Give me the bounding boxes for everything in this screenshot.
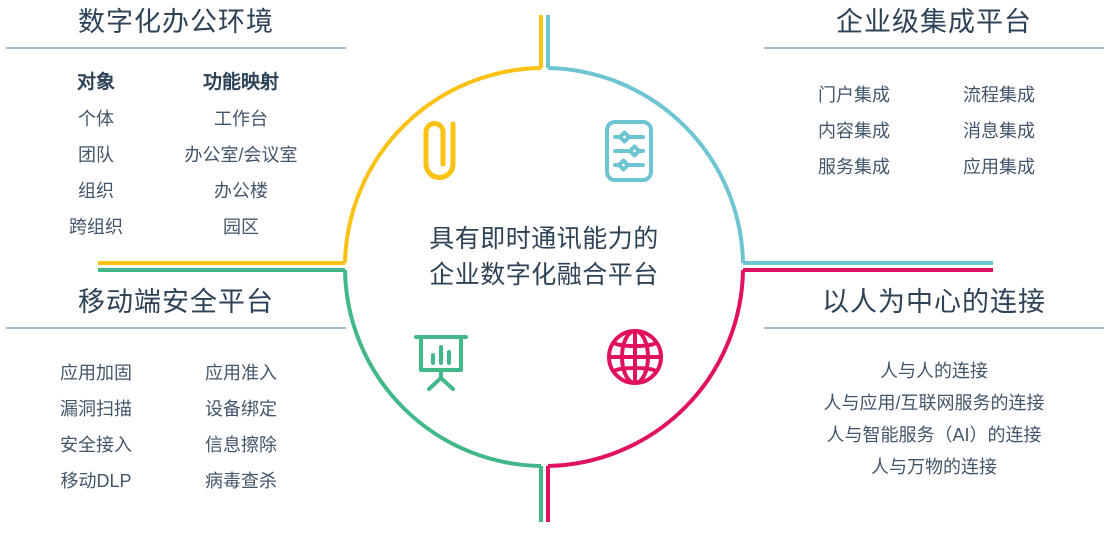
panel-digital-office-environment: 数字化办公环境 对象 个体 团队 组织 跨组织 功能映射 工作台 办公室/会议室… [6, 8, 346, 245]
panel-rule-bottom-left [6, 327, 346, 329]
panel-title-bottom-left: 移动端安全平台 [6, 288, 346, 318]
column-integration-right: 流程集成 消息集成 应用集成 [919, 77, 1079, 185]
list-item: 门户集成 [818, 77, 890, 113]
list-item: 信息擦除 [205, 427, 277, 463]
list-item: 消息集成 [963, 113, 1035, 149]
list-item: 内容集成 [818, 113, 890, 149]
list-item: 团队 [78, 137, 114, 173]
column-header-function-mapping: 功能映射 [203, 65, 279, 101]
column-header-objects: 对象 [77, 65, 115, 101]
globe-icon [604, 326, 666, 393]
column-security-left: 应用加固 漏洞扫描 安全接入 移动DLP [31, 355, 161, 499]
list-item: 跨组织 [69, 209, 123, 245]
panel-rule-top-right [764, 47, 1104, 49]
list-item: 园区 [223, 209, 259, 245]
list-item: 办公楼 [214, 173, 268, 209]
list-item: 工作台 [214, 101, 268, 137]
list-item: 应用集成 [963, 149, 1035, 185]
panel-title-bottom-right: 以人为中心的连接 [764, 288, 1104, 318]
settings-sliders-icon [600, 118, 658, 189]
panel-mobile-security-platform: 移动端安全平台 应用加固 漏洞扫描 安全接入 移动DLP 应用准入 设备绑定 信… [6, 288, 346, 499]
list-item: 漏洞扫描 [60, 391, 132, 427]
panel-enterprise-integration-platform: 企业级集成平台 门户集成 内容集成 服务集成 流程集成 消息集成 应用集成 [764, 8, 1104, 185]
list-item: 设备绑定 [205, 391, 277, 427]
panel-rule-top-left [6, 47, 346, 49]
list-item: 人与应用/互联网服务的连接 [824, 387, 1045, 419]
list-item: 应用加固 [60, 355, 132, 391]
panel-title-top-right: 企业级集成平台 [764, 8, 1104, 38]
list-item: 服务集成 [818, 149, 890, 185]
center-title-line-2: 企业数字化融合平台 [344, 258, 744, 294]
center-title-line-1: 具有即时通讯能力的 [344, 222, 744, 258]
list-item: 病毒查杀 [205, 463, 277, 499]
list-item: 应用准入 [205, 355, 277, 391]
column-function-mapping: 功能映射 工作台 办公室/会议室 办公楼 园区 [161, 65, 321, 245]
list-item: 人与智能服务（AI）的连接 [826, 419, 1041, 451]
list-item: 个体 [78, 101, 114, 137]
column-objects: 对象 个体 团队 组织 跨组织 [31, 65, 161, 245]
panel-people-centric-connection: 以人为中心的连接 人与人的连接 人与应用/互联网服务的连接 人与智能服务（AI）… [764, 288, 1104, 483]
list-item: 流程集成 [963, 77, 1035, 113]
list-item: 安全接入 [60, 427, 132, 463]
column-security-right: 应用准入 设备绑定 信息擦除 病毒查杀 [161, 355, 321, 499]
panel-title-top-left: 数字化办公环境 [6, 8, 346, 38]
connection-list: 人与人的连接 人与应用/互联网服务的连接 人与智能服务（AI）的连接 人与万物的… [764, 355, 1104, 483]
paperclip-icon [412, 116, 468, 189]
list-item: 人与万物的连接 [871, 451, 997, 483]
presentation-chart-icon [410, 330, 472, 397]
list-item: 组织 [78, 173, 114, 209]
column-integration-left: 门户集成 内容集成 服务集成 [789, 77, 919, 185]
list-item: 移动DLP [60, 463, 131, 499]
center-title: 具有即时通讯能力的 企业数字化融合平台 [344, 222, 744, 293]
list-item: 办公室/会议室 [184, 137, 297, 173]
diagram-canvas: 具有即时通讯能力的 企业数字化融合平台 数字化办公环境 对象 个体 团队 组织 … [0, 0, 1110, 538]
panel-rule-bottom-right [764, 327, 1104, 329]
list-item: 人与人的连接 [880, 355, 988, 387]
